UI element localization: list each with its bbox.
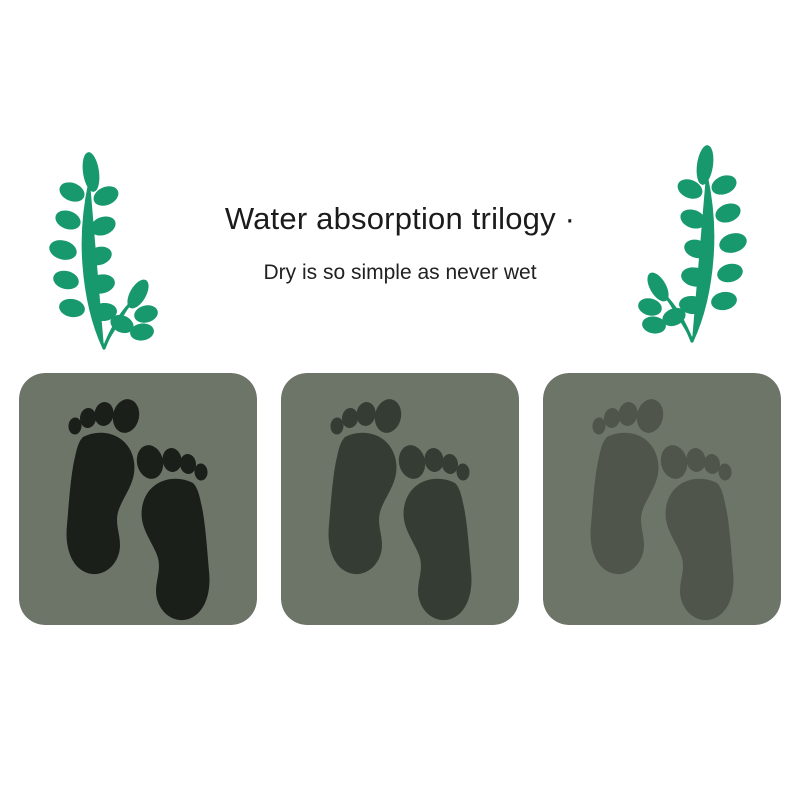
footprint-panel-1 xyxy=(19,373,257,625)
page-title: Water absorption trilogy · xyxy=(0,200,800,237)
footprint-panel-2 xyxy=(281,373,519,625)
page-subtitle: Dry is so simple as never wet xyxy=(0,260,800,285)
poster-canvas: Water absorption trilogy · Dry is so sim… xyxy=(0,0,800,800)
footprint-panel-3 xyxy=(543,373,781,625)
headline-block: Water absorption trilogy · Dry is so sim… xyxy=(0,200,800,285)
footprint-panel-row xyxy=(19,373,781,625)
